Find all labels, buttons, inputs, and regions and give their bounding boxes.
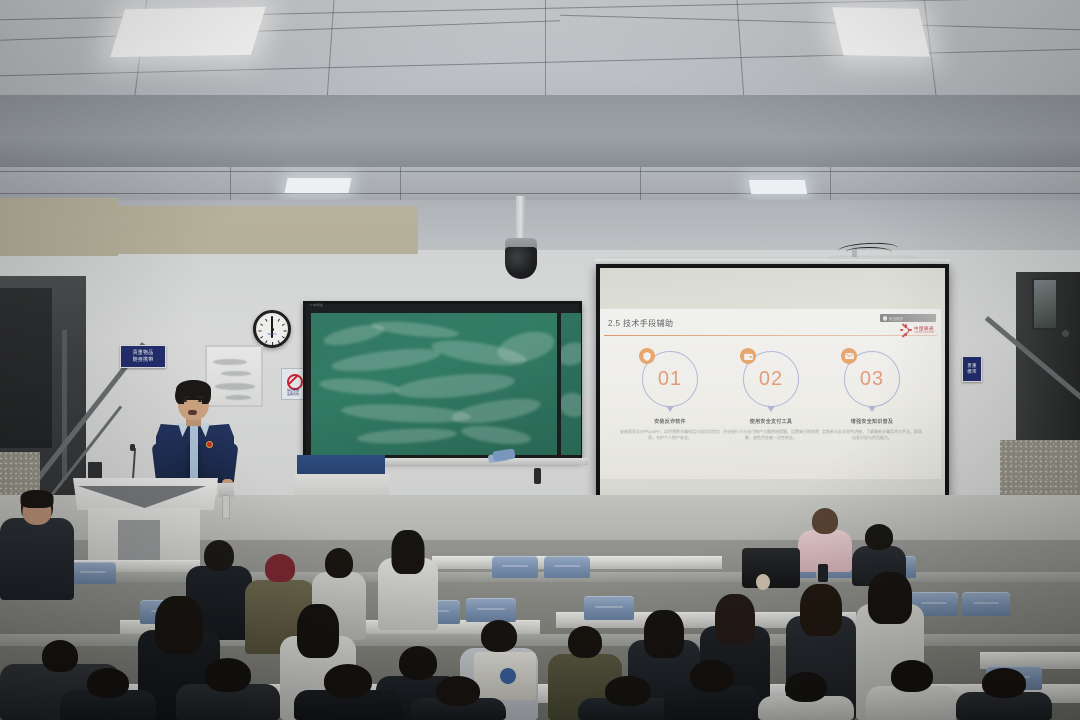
podium-monitor xyxy=(88,462,102,480)
presenter-jacket-left xyxy=(156,424,190,482)
ring-pointer-icon xyxy=(767,406,775,412)
door-handle[interactable] xyxy=(1062,330,1069,337)
wallet-icon xyxy=(740,348,756,364)
clock-center-pin xyxy=(271,328,274,331)
lecture-hall-photo: SEIKO 贵重物品 随身携带 贵重 携带 禁止吸烟 违者罚款 xyxy=(0,0,1080,720)
presenter-jacket-right xyxy=(198,424,234,482)
slide-column-heading: 安装反诈软件 xyxy=(616,418,724,425)
camera-mount xyxy=(516,196,525,240)
audience-member xyxy=(664,660,760,720)
slide-tag-label: 安全防护 xyxy=(889,316,903,321)
shield-icon xyxy=(883,316,887,321)
message-icon xyxy=(841,348,857,364)
ceiling-light-panel xyxy=(110,7,266,57)
slide-title: 2.5 技术手段辅助 xyxy=(608,318,673,329)
no-smoking-text: 禁止吸烟 违者罚款 xyxy=(283,389,303,396)
wall-beige-band-left xyxy=(0,198,118,256)
presenter-lapel-pin xyxy=(206,441,213,448)
ceiling-beam xyxy=(0,95,1080,167)
sign-line-2: 随身携带 xyxy=(133,357,154,363)
audience-member xyxy=(294,664,402,720)
slide-number-ring: 01 xyxy=(642,351,698,407)
audience-member xyxy=(378,530,438,630)
china-unicom-logo: 中国联通 CHINA UNICOM xyxy=(900,324,934,336)
auditorium-seat[interactable] xyxy=(584,596,634,620)
auditorium-seat[interactable] xyxy=(492,556,538,578)
auditorium-seat[interactable] xyxy=(962,592,1010,616)
ring-pointer-icon xyxy=(868,406,876,412)
audience-member xyxy=(866,660,958,720)
chalkboard xyxy=(303,301,582,461)
unicom-subname: CHINA UNICOM xyxy=(914,331,934,334)
slide-title-underline xyxy=(604,335,937,336)
audience-member xyxy=(798,508,852,572)
audience-member xyxy=(956,668,1052,720)
bag-charm xyxy=(756,574,770,590)
audience-member xyxy=(758,672,854,720)
door-window xyxy=(1032,278,1058,330)
slide-tag-badge: 安全防护 xyxy=(880,314,936,322)
chalkboard-brand-label: 广州科达 xyxy=(310,303,323,307)
slide-number: 02 xyxy=(759,368,783,391)
wall-clock: SEIKO xyxy=(253,310,291,348)
slide-number: 03 xyxy=(860,368,884,391)
audience-member xyxy=(176,658,280,720)
valuables-sign-right: 贵重 携带 xyxy=(962,356,982,382)
auditorium-seat[interactable] xyxy=(544,556,590,578)
unicom-mark-icon xyxy=(900,324,912,336)
security-camera-icon xyxy=(505,247,537,279)
slide-number: 01 xyxy=(658,368,682,391)
audience-member xyxy=(578,676,678,720)
slide-column-body: 安装国家反诈中心APP，实时预警诈骗电话与短信风险信息，守护个人财产安全。 xyxy=(616,429,724,441)
wall-handset[interactable] xyxy=(222,495,230,519)
projector-cable xyxy=(846,247,892,257)
slide-column-3: 03 增强安全知识普及 定期参与反诈宣传讲座，了解最新诈骗话术与手法，提高自身识… xyxy=(818,351,926,441)
presenter-mouth xyxy=(188,410,197,415)
audience-member xyxy=(0,490,74,600)
handbag[interactable] xyxy=(742,548,800,588)
slide-column-body: 开启银行卡与支付账户大额转账提醒，设置每日转账限额，避免资金被一次性转走。 xyxy=(717,429,825,441)
no-smoking-sign: 禁止吸烟 违者罚款 xyxy=(281,368,305,400)
clock-brand-label: SEIKO xyxy=(267,332,276,336)
auditorium-seat[interactable] xyxy=(466,598,516,622)
chalkboard-side-panel xyxy=(561,313,581,455)
water-bottle[interactable] xyxy=(818,564,828,582)
sign-line-2: 携带 xyxy=(967,369,976,375)
ceiling-light-panel xyxy=(284,178,351,193)
chalkboard-main-panel xyxy=(311,313,557,455)
audience-member xyxy=(60,668,156,720)
ring-pointer-icon xyxy=(666,406,674,412)
ceiling-light-panel xyxy=(749,180,807,194)
slide-column-body: 定期参与反诈宣传讲座，了解最新诈骗话术与手法，提高自身识别与防范能力。 xyxy=(818,429,926,441)
audience-member xyxy=(410,676,506,720)
slide-number-ring: 02 xyxy=(743,351,799,407)
shield-check-icon xyxy=(639,348,655,364)
wall-beige-band xyxy=(118,206,418,254)
slide-column-2: 02 使用安全支付工具 开启银行卡与支付账户大额转账提醒，设置每日转账限额，避免… xyxy=(717,351,825,441)
slide-column-heading: 使用安全支付工具 xyxy=(717,418,825,425)
ceiling-light-panel xyxy=(832,7,929,56)
stairwell-opening xyxy=(0,288,52,448)
clock-face: SEIKO xyxy=(258,315,286,343)
auditorium-seat[interactable] xyxy=(70,562,116,584)
wall-phone[interactable] xyxy=(534,468,541,484)
handrail-post xyxy=(62,330,67,480)
presentation-slide: 2.5 技术手段辅助 安全防护 中国联通 CHINA UNICOM xyxy=(600,309,941,479)
valuables-sign-left: 贵重物品 随身携带 xyxy=(120,345,166,368)
presenter xyxy=(150,383,236,488)
slide-number-ring: 03 xyxy=(844,351,900,407)
microphone-icon xyxy=(130,444,135,451)
slide-column-heading: 增强安全知识普及 xyxy=(818,418,926,425)
slide-column-1: 01 安装反诈软件 安装国家反诈中心APP，实时预警诈骗电话与短信风险信息，守护… xyxy=(616,351,724,441)
